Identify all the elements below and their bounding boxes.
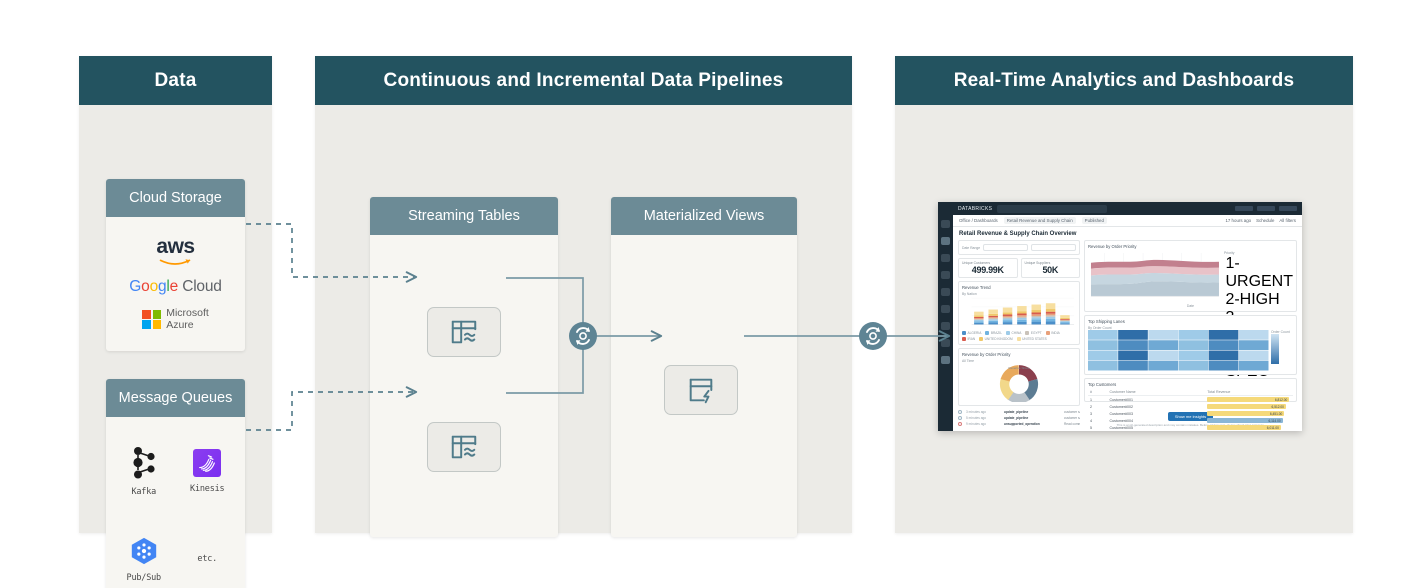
dashboard-filters-button[interactable]: All filters: [1279, 218, 1296, 223]
legend-item: UNITED STATES: [1017, 337, 1047, 341]
legend-item: ALGERIA: [962, 331, 981, 335]
dashboard-sidebar[interactable]: [938, 202, 953, 431]
column-data-title: Data: [79, 56, 272, 105]
topbar-action-3[interactable]: [1279, 206, 1297, 211]
dashboard-last-run: 17 hours ago: [1225, 218, 1251, 223]
revenue-trend-subtitle: By Nation: [962, 292, 1076, 296]
queue-item-kinesis: Kinesis: [176, 427, 240, 515]
dashboard-right-column: Revenue by Order Priority: [1084, 240, 1297, 427]
filter-input-right[interactable]: [1031, 244, 1076, 251]
card-heatmap: Top Shipping Lanes By Order Count Order …: [1084, 315, 1297, 375]
card-revenue-area: Revenue by Order Priority: [1084, 240, 1297, 312]
feed-time: 5 minutes ago: [966, 416, 1000, 420]
cell-value: 6,011.00: [1205, 424, 1293, 431]
queue-item-pubsub: Pub/Sub: [112, 515, 176, 588]
feed-status-icon: [958, 410, 962, 414]
feed-time: 9 minutes ago: [966, 422, 1000, 426]
sidebar-icon-home[interactable]: [941, 220, 950, 228]
topbar-action-1[interactable]: [1235, 206, 1253, 211]
legend-item: UNITED KINGDOM: [979, 337, 1012, 341]
feed-actor: update_pipeline: [1004, 416, 1060, 420]
streaming-table-icon: [449, 432, 479, 462]
area-chart-legend: Priority 1-URGENT 2-HIGH 3-MEDIUM 4-NOT …: [1224, 251, 1293, 304]
microsoft-squares-icon: [142, 310, 161, 329]
materialized-view-node[interactable]: [664, 365, 738, 415]
aws-logo-label: aws: [156, 236, 194, 257]
dashboard-content: Retail Revenue & Supply Chain Overview D…: [953, 227, 1302, 431]
sidebar-icon-dashboards[interactable]: [941, 356, 950, 364]
heatmap-title: Top Shipping Lanes: [1088, 319, 1293, 324]
dashboard-main: DATABRICKS Office / Dashboards Retail Re…: [953, 202, 1302, 431]
pubsub-logo-icon: [129, 536, 159, 566]
table-row[interactable]: 1 Customer#001 6,812.00: [1088, 396, 1293, 404]
materialized-view-icon: [686, 375, 716, 405]
microsoft-azure-logo: MicrosoftAzure: [142, 307, 209, 331]
dashboard-subbar: Office / Dashboards Retail Revenue and S…: [953, 215, 1302, 227]
panel-message-queues-title: Message Queues: [106, 379, 245, 417]
streaming-table-node-1[interactable]: [427, 307, 501, 357]
dashboard-grid: Date Range Unique Customers 499.99K: [958, 240, 1297, 427]
dashboard-topbar-actions[interactable]: [1235, 206, 1297, 211]
legend-item: EGYPT: [1025, 331, 1041, 335]
dashboard-topbar: DATABRICKS: [953, 202, 1302, 215]
queue-label-etc: etc.: [197, 554, 217, 564]
donut-center-label: Revenue Share: [1008, 366, 1029, 370]
diagram-canvas: Data Cloud Storage aws Google Cloud: [0, 0, 1424, 588]
dashboard-breadcrumb[interactable]: Office / Dashboards: [959, 218, 998, 223]
aws-smile-icon: [158, 258, 192, 266]
activity-feed: 3 minutes ago update_pipeline customer s…: [958, 409, 1080, 427]
legend-item: CHINA: [1006, 331, 1021, 335]
revenue-trend-chart: [962, 297, 1076, 329]
column-pipelines-title: Continuous and Incremental Data Pipeline…: [315, 56, 852, 105]
feed-row[interactable]: 9 minutes ago unsupported_operation Read…: [958, 421, 1080, 427]
cell-value: 6,451.00: [1205, 410, 1293, 417]
kafka-logo-icon: [129, 446, 159, 480]
panel-streaming-tables-title: Streaming Tables: [370, 197, 558, 235]
kpi-value-customers: 499.99K: [962, 265, 1014, 275]
sidebar-icon-jobs[interactable]: [941, 271, 950, 279]
heatmap-legend: Order Count: [1271, 330, 1293, 371]
feed-status-icon: [958, 416, 962, 420]
column-data: Data Cloud Storage aws Google Cloud: [79, 56, 272, 533]
card-revenue-trend: Revenue Trend By Nation ALGERIA BRAZIL C…: [958, 281, 1080, 345]
topbar-action-2[interactable]: [1257, 206, 1275, 211]
heatmap-chart: [1088, 330, 1269, 371]
sidebar-icon-workspace[interactable]: [941, 237, 950, 245]
cell-value: 6,812.00: [1205, 396, 1293, 404]
panel-cloud-storage: Cloud Storage aws Google Cloud: [106, 179, 245, 351]
feed-actor: unsupported_operation: [1004, 422, 1060, 426]
dashboard-left-column: Date Range Unique Customers 499.99K: [958, 240, 1080, 427]
area-chart-title: Revenue by Order Priority: [1088, 244, 1293, 249]
queue-label-pubsub: Pub/Sub: [127, 573, 161, 583]
sync-refresh-icon-2[interactable]: [859, 322, 887, 350]
panel-message-queues: Message Queues Kafka: [106, 379, 245, 588]
table-title: Top Customers: [1088, 382, 1293, 387]
revenue-trend-legend: ALGERIA BRAZIL CHINA EGYPT INDIA IRAN UN…: [962, 331, 1076, 341]
dashboard-screenshot[interactable]: DATABRICKS Office / Dashboards Retail Re…: [938, 202, 1302, 431]
area-chart: [1088, 251, 1222, 304]
area-chart-xlabel: Date: [1088, 304, 1293, 308]
dashboard-page-title: Retail Revenue & Supply Chain Overview: [958, 231, 1297, 237]
queue-item-etc: etc.: [176, 515, 240, 588]
feed-status-icon: [958, 422, 962, 426]
filter-label: Date Range: [962, 246, 980, 250]
column-pipelines: Continuous and Incremental Data Pipeline…: [315, 56, 852, 533]
dashboard-chip-name[interactable]: Retail Revenue and Supply Chain: [1004, 217, 1076, 224]
sidebar-icon-catalog[interactable]: [941, 254, 950, 262]
card-filters: Date Range: [958, 240, 1080, 255]
card-revenue-donut: Revenue by Order Priority All Time: [958, 348, 1080, 406]
dashboard-search-input[interactable]: [997, 205, 1107, 213]
panel-materialized-views-title: Materialized Views: [611, 197, 797, 235]
sidebar-icon-compute[interactable]: [941, 305, 950, 313]
column-analytics-title: Real-Time Analytics and Dashboards: [895, 56, 1353, 105]
dashboard-subbar-actions[interactable]: 17 hours ago Schedule All filters: [1225, 218, 1296, 223]
sidebar-icon-sql[interactable]: [941, 339, 950, 347]
kpi-unique-customers: Unique Customers 499.99K: [958, 258, 1018, 278]
panel-streaming-tables: Streaming Tables: [370, 197, 558, 537]
sidebar-icon-pipelines[interactable]: [941, 288, 950, 296]
sidebar-icon-marketplace[interactable]: [941, 322, 950, 330]
feed-actor: update_pipeline: [1004, 410, 1060, 414]
kpi-row: Unique Customers 499.99K Unique Supplier…: [958, 258, 1080, 278]
legend-item: INDIA: [1046, 331, 1060, 335]
feed-message: customer sales & purchase_cust_transacti…: [1064, 410, 1080, 414]
kpi-value-suppliers: 50K: [1025, 265, 1077, 275]
heatmap-color-scale: [1271, 334, 1279, 364]
legend-item: BRAZIL: [985, 331, 1002, 335]
cell-value: 6,114.00: [1205, 417, 1293, 424]
microsoft-azure-label: MicrosoftAzure: [166, 307, 209, 331]
dashboard-brand: DATABRICKS: [958, 206, 992, 212]
filter-input-left[interactable]: [983, 244, 1028, 251]
cell-name: Customer#001: [1107, 396, 1205, 404]
kinesis-logo-icon: [193, 449, 221, 477]
kpi-unique-suppliers: Unique Suppliers 50K: [1021, 258, 1081, 278]
dashboard-schedule-button[interactable]: Schedule: [1256, 218, 1274, 223]
revenue-trend-title: Revenue Trend: [962, 285, 1076, 290]
cell-rank: 1: [1088, 396, 1107, 404]
cell-value: 6,512.00: [1205, 403, 1293, 410]
panel-materialized-views: Materialized Views: [611, 197, 797, 537]
donut-title: Revenue by Order Priority: [962, 352, 1076, 357]
panel-cloud-storage-title: Cloud Storage: [106, 179, 245, 217]
filter-row: Date Range: [962, 244, 1076, 251]
streaming-table-icon: [449, 317, 479, 347]
donut-chart: Revenue Share: [962, 363, 1076, 402]
streaming-table-node-2[interactable]: [427, 422, 501, 472]
cloud-storage-logos: aws Google Cloud M: [106, 217, 245, 351]
feed-message: Read command may have failed to run on t…: [1064, 422, 1080, 426]
queue-label-kafka: Kafka: [131, 487, 156, 497]
feed-message: customer sales & batch_partitions: [1064, 416, 1080, 420]
queue-item-kafka: Kafka: [112, 427, 176, 515]
feed-time: 3 minutes ago: [966, 410, 1000, 414]
queue-label-kinesis: Kinesis: [190, 484, 224, 494]
aws-logo: aws: [156, 236, 194, 266]
google-cloud-logo: Google Cloud: [129, 278, 221, 296]
legend-item: IRAN: [962, 337, 975, 341]
message-queue-logos: Kafka: [106, 417, 245, 588]
dashboard-chip-status[interactable]: Published: [1082, 217, 1107, 224]
card-top-customers: Top Customers # Customer Name Total Reve…: [1084, 378, 1297, 402]
